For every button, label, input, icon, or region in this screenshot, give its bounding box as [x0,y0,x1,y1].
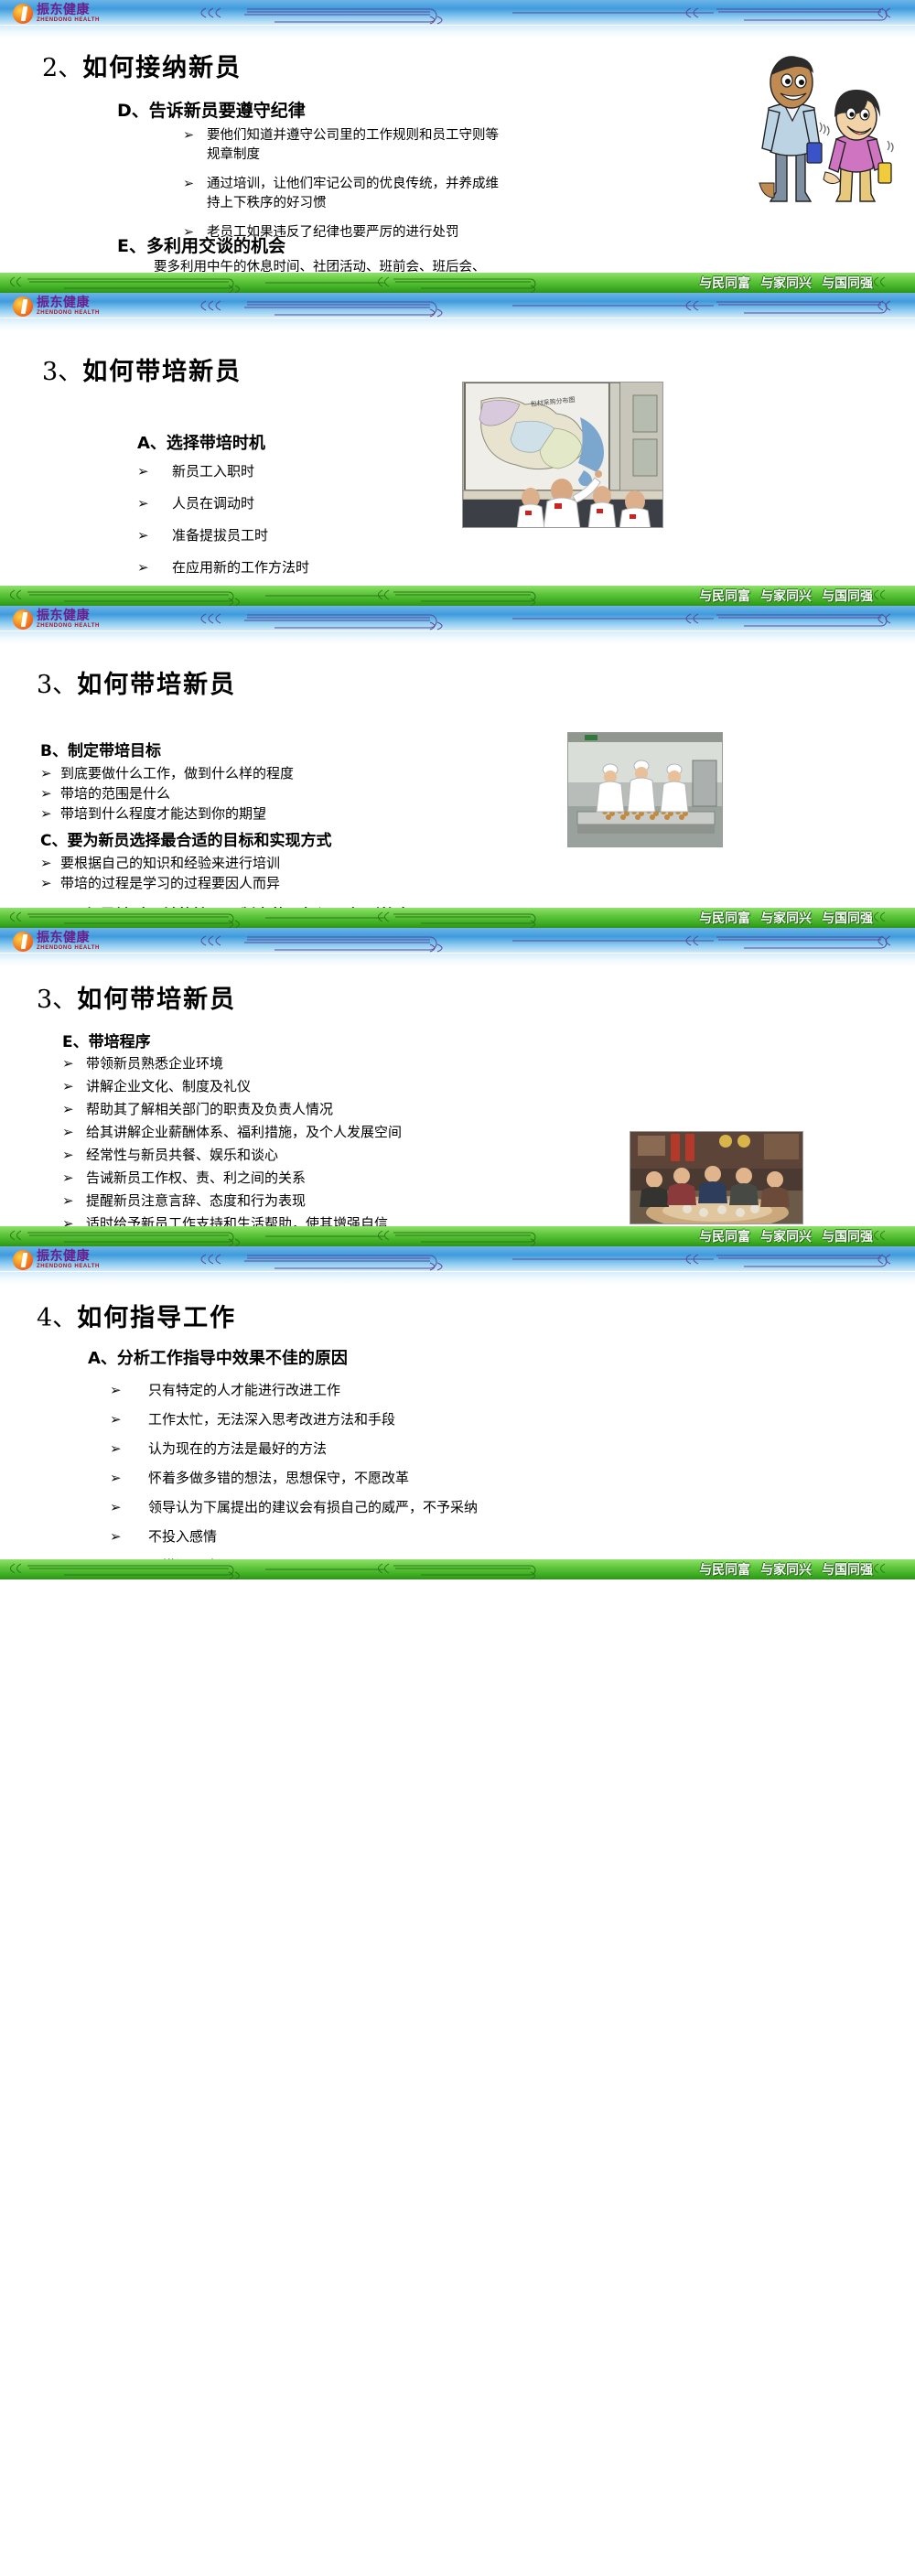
footer-slogan: 与民同富 与家同兴 与国同强 [699,273,873,293]
brand-logo: 振东健康 ZHENDONG HEALTH [13,930,145,953]
section-heading-b: B、制定带培目标 [40,741,411,761]
bullet-arrow-icon: ➢ [62,1169,74,1189]
bullet-arrow-icon: ➢ [110,1526,122,1547]
brand-logo: 振东健康 ZHENDONG HEALTH [13,1248,145,1271]
bullet-arrow-icon: ➢ [62,1054,74,1074]
list-item-label: 告诫新员工作权、责、利之间的关系 [86,1169,306,1186]
header-decoration [151,606,915,631]
bullet-arrow-icon: ➢ [110,1380,122,1400]
brand-logo: 振东健康 ZHENDONG HEALTH [13,608,145,631]
title-text: 如何指导工作 [77,1304,236,1332]
brand-name-en: ZHENDONG HEALTH [37,623,100,629]
list-item-label: 带培到什么程度才能达到你的期望 [60,805,266,822]
brand-name-en: ZHENDONG HEALTH [37,1264,100,1269]
slogan-part-1: 与民同富 [699,1227,750,1245]
bullet-list-e: ➢带领新员熟悉企业环境 ➢讲解企业文化、制度及礼仪 ➢帮助其了解相关部门的职责及… [62,1054,402,1246]
section-heading-d: D、告诉新员要遵守纪律 [117,97,306,122]
bullet-arrow-icon: ➢ [137,557,149,577]
title-text: 如何带培新员 [82,358,242,386]
slide-5-body: 4、如何指导工作 A、分析工作指导中效果不佳的原因 ➢只有特定的人才能进行改进工… [0,1285,915,1559]
brand-name-en: ZHENDONG HEALTH [37,945,100,951]
list-item-label: 认为现在的方法是最好的方法 [148,1440,327,1457]
zhendong-logo-icon [13,4,33,24]
list-item-label: 讲解企业文化、制度及礼仪 [86,1078,251,1094]
footer-slogan: 与民同富 与家同兴 与国同强 [699,1226,873,1246]
list-item: ➢ 带培的过程是学习的过程要因人而异 [40,873,411,893]
slogan-part-2: 与家同兴 [760,274,812,292]
brand-logo: 振东健康 ZHENDONG HEALTH [13,295,145,318]
list-item-line2: 规章制度 [207,146,499,165]
list-item-label: 领导认为下属提出的建议会有损自己的威严，不予采纳 [148,1499,478,1515]
brand-name-en: ZHENDONG HEALTH [37,17,100,23]
section-heading-e: E、多利用交谈的机会 [117,232,285,257]
list-item-label: 到底要做什么工作，做到什么样的程度 [60,765,294,781]
list-item: ➢讲解企业文化、制度及礼仪 [62,1077,402,1097]
header-decoration [151,928,915,954]
slogan-part-1: 与民同富 [699,909,750,927]
title-number: 3、 [37,986,77,1014]
slide-footer-band: 与民同富 与家同兴 与国同强 [0,1226,915,1246]
bullet-arrow-icon: ➢ [40,763,52,783]
bullet-arrow-icon: ➢ [62,1146,74,1166]
bullet-list-b: ➢ 到底要做什么工作，做到什么样的程度 ➢ 带培的范围是什么 ➢ 带培到什么程度… [40,763,411,824]
list-item-label: 工作太忙，无法深入思考改进方法和手段 [148,1411,395,1428]
title-text: 如何接纳新员 [82,54,242,82]
list-item: ➢工作太忙，无法深入思考改进方法和手段 [110,1409,478,1429]
list-item: ➢ 在应用新的工作方法时 [137,557,309,577]
photo-factory-training [567,732,723,847]
bullet-arrow-icon: ➢ [62,1123,74,1143]
list-item-label: 带培的过程是学习的过程要因人而异 [60,875,280,891]
title-number: 3、 [37,671,77,699]
slide-header-band: 振东健康 ZHENDONG HEALTH [0,928,915,954]
slide-header-band: 振东健康 ZHENDONG HEALTH [0,293,915,318]
header-fade [0,26,915,38]
list-item-label: 在应用新的工作方法时 [172,559,309,576]
list-item-label: 经常性与新员共餐、娱乐和谈心 [86,1147,278,1163]
slogan-part-3: 与国同强 [822,1560,873,1579]
list-item-line2: 持上下秩序的好习惯 [207,194,499,213]
slogan-part-1: 与民同富 [699,587,750,605]
slogan-part-3: 与国同强 [822,1227,873,1245]
list-item: ➢提醒新员注意言辞、态度和行为表现 [62,1191,402,1212]
footer-slogan: 与民同富 与家同兴 与国同强 [699,1559,873,1579]
title-number: 3、 [42,358,82,386]
brand-logo: 振东健康 ZHENDONG HEALTH [13,2,145,25]
page-title: 3、如何带培新员 [37,979,236,1015]
slogan-part-2: 与家同兴 [760,587,812,605]
list-item: ➢ 通过培训，让他们牢记公司的优良传统，并养成维 持上下秩序的好习惯 [183,175,499,213]
list-item: ➢怀着多做多错的想法，思想保守，不愿改革 [110,1468,478,1488]
slogan-part-1: 与民同富 [699,1560,750,1579]
bullet-list-c: ➢ 要根据自己的知识和经验来进行培训 ➢ 带培的过程是学习的过程要因人而异 [40,853,411,893]
header-fade [0,1272,915,1285]
list-item: ➢不投入感情 [110,1526,478,1547]
list-item: ➢ 带培的范围是什么 [40,783,411,803]
list-item: ➢ 新员工入职时 [137,461,309,481]
slide-footer-band: 与民同富 与家同兴 与国同强 [0,586,915,606]
brand-name-en: ZHENDONG HEALTH [37,310,100,316]
brand-name-cn: 振东健康 [37,932,100,944]
zhendong-logo-icon [13,296,33,317]
header-fade [0,318,915,331]
bullet-arrow-icon: ➢ [110,1497,122,1517]
list-item-label: 带领新员熟悉企业环境 [86,1055,223,1072]
title-text: 如何带培新员 [77,671,236,699]
bullet-arrow-icon: ➢ [40,873,52,893]
slide-footer-band: 与民同富 与家同兴 与国同强 [0,1559,915,1579]
bullet-arrow-icon: ➢ [137,493,149,513]
list-item: ➢帮助其了解相关部门的职责及负责人情况 [62,1100,402,1120]
list-item-label: 新员工入职时 [172,463,254,480]
list-item: ➢领导认为下属提出的建议会有损自己的威严，不予采纳 [110,1497,478,1517]
bullet-arrow-icon: ➢ [183,175,194,194]
slogan-part-2: 与家同兴 [760,1227,812,1245]
slide-3: 振东健康 ZHENDONG HEALTH [0,606,915,928]
list-item: ➢ 人员在调动时 [137,493,309,513]
title-text: 如何带培新员 [77,986,236,1014]
slogan-part-1: 与民同富 [699,274,750,292]
zhendong-logo-icon [13,609,33,630]
slogan-part-2: 与家同兴 [760,1560,812,1579]
slide-1-body: 2、如何接纳新员 D、告诉新员要遵守纪律 ➢ 要他们知道并遵守公司里的工作规则和… [0,38,915,273]
slide-footer-band: 与民同富 与家同兴 与国同强 [0,908,915,928]
list-item-line1: 要他们知道并遵守公司里的工作规则和员工守则等 [207,126,499,146]
footer-slogan: 与民同富 与家同兴 与国同强 [699,586,873,606]
footer-slogan: 与民同富 与家同兴 与国同强 [699,908,873,928]
slide-2: 振东健康 ZHENDONG HEALTH [0,293,915,606]
page-title: 3、如何带培新员 [37,664,236,700]
list-item: ➢ 要他们知道并遵守公司里的工作规则和员工守则等 规章制度 [183,126,499,165]
bullet-list-a: ➢ 新员工入职时 ➢ 人员在调动时 ➢ 准备提拔员工时 ➢ 在应用新的工作方法时… [137,461,309,606]
bullet-list-a: ➢只有特定的人才能进行改进工作 ➢工作太忙，无法深入思考改进方法和手段 ➢认为现… [110,1380,478,1579]
brand-name-cn: 振东健康 [37,609,100,622]
list-item: ➢认为现在的方法是最好的方法 [110,1439,478,1459]
bullet-arrow-icon: ➢ [62,1191,74,1212]
title-number: 2、 [42,54,82,82]
bullet-arrow-icon: ➢ [137,461,149,481]
slide-2-body: 3、如何带培新员 A、选择带培时机 ➢ 新员工入职时 ➢ 人员在调动时 ➢ 准备… [0,331,915,586]
header-decoration [151,0,915,26]
list-item-label: 准备提拔员工时 [172,527,268,544]
list-item-label: 给其讲解企业薪酬体系、福利措施，及个人发展空间 [86,1124,402,1140]
list-item: ➢经常性与新员共餐、娱乐和谈心 [62,1146,402,1166]
list-item-label: 提醒新员注意言辞、态度和行为表现 [86,1192,306,1209]
list-item: ➢带领新员熟悉企业环境 [62,1054,402,1074]
list-item-line1: 通过培训，让他们牢记公司的优良传统，并养成维 [207,175,499,194]
slide-5: 振东健康 ZHENDONG HEALTH [0,1246,915,1579]
bullet-arrow-icon: ➢ [40,783,52,803]
bullet-arrow-icon: ➢ [183,126,194,146]
bullet-arrow-icon: ➢ [62,1100,74,1120]
brand-name-cn: 振东健康 [37,296,100,309]
section-heading-a: A、分析工作指导中效果不佳的原因 [88,1345,348,1369]
bullet-arrow-icon: ➢ [40,853,52,873]
slogan-part-3: 与国同强 [822,909,873,927]
section-heading-e: E、带培程序 [62,1029,151,1051]
list-item-label: 带培的范围是什么 [60,785,170,802]
slide-header-band: 振东健康 ZHENDONG HEALTH [0,606,915,631]
slide-4-body: 3、如何带培新员 E、带培程序 ➢带领新员熟悉企业环境 ➢讲解企业文化、制度及礼… [0,966,915,1226]
slogan-part-2: 与家同兴 [760,909,812,927]
slide-header-band: 振东健康 ZHENDONG HEALTH [0,0,915,26]
slide-4: 振东健康 ZHENDONG HEALTH [0,928,915,1246]
section-heading-c: C、要为新员选择最合适的目标和实现方式 [40,831,411,851]
bullet-arrow-icon: ➢ [110,1409,122,1429]
slide-footer-band: 与民同富 与家同兴 与国同强 [0,273,915,293]
bullet-arrow-icon: ➢ [110,1468,122,1488]
slide-deck: 振东健康 ZHENDONG HEALTH [0,0,915,1579]
list-item-label: 人员在调动时 [172,495,254,512]
page-title: 2、如何接纳新员 [42,48,242,83]
bullet-arrow-icon: ➢ [40,803,52,824]
bullet-arrow-icon: ➢ [137,525,149,545]
title-number: 4、 [37,1304,77,1332]
slide-header-band: 振东健康 ZHENDONG HEALTH [0,1246,915,1272]
bullet-arrow-icon: ➢ [62,1077,74,1097]
slogan-part-3: 与国同强 [822,587,873,605]
list-item-label: 帮助其了解相关部门的职责及负责人情况 [86,1101,333,1117]
header-decoration [151,1246,915,1272]
list-item-label: 只有特定的人才能进行改进工作 [148,1382,340,1398]
list-item-label: 怀着多做多错的想法，思想保守，不愿改革 [148,1470,409,1486]
page-title: 4、如何指导工作 [37,1298,236,1333]
zhendong-logo-icon [13,1250,33,1270]
header-decoration [151,293,915,318]
zhendong-logo-icon [13,932,33,952]
header-fade [0,954,915,966]
section-heading-a: A、选择带培时机 [137,430,265,454]
header-fade [0,631,915,644]
photo-staff-dinner [630,1131,803,1224]
list-item: ➢ 到底要做什么工作，做到什么样的程度 [40,763,411,783]
photo-map-briefing: 包材采购分布图 [462,382,663,528]
list-item: ➢给其讲解企业薪酬体系、福利措施，及个人发展空间 [62,1123,402,1143]
list-item-label: 不投入感情 [148,1528,217,1545]
bullet-arrow-icon: ➢ [110,1439,122,1459]
list-item: ➢ 要根据自己的知识和经验来进行培训 [40,853,411,873]
slide-3-body: 3、如何带培新员 B、制定带培目标 ➢ 到底要做什么工作，做到什么样的程度 ➢ … [0,644,915,908]
clipart-two-people-chatting [723,55,901,206]
slide-1: 振东健康 ZHENDONG HEALTH [0,0,915,293]
list-item-label: 要根据自己的知识和经验来进行培训 [60,855,280,871]
list-item: ➢告诫新员工作权、责、利之间的关系 [62,1169,402,1189]
page-title: 3、如何带培新员 [42,351,242,387]
list-item: ➢只有特定的人才能进行改进工作 [110,1380,478,1400]
brand-name-cn: 振东健康 [37,1250,100,1263]
list-item: ➢ 准备提拔员工时 [137,525,309,545]
slide-3-content: B、制定带培目标 ➢ 到底要做什么工作，做到什么样的程度 ➢ 带培的范围是什么 … [40,741,411,926]
brand-name-cn: 振东健康 [37,4,100,16]
list-item: ➢ 带培到什么程度才能达到你的期望 [40,803,411,824]
slogan-part-3: 与国同强 [822,274,873,292]
